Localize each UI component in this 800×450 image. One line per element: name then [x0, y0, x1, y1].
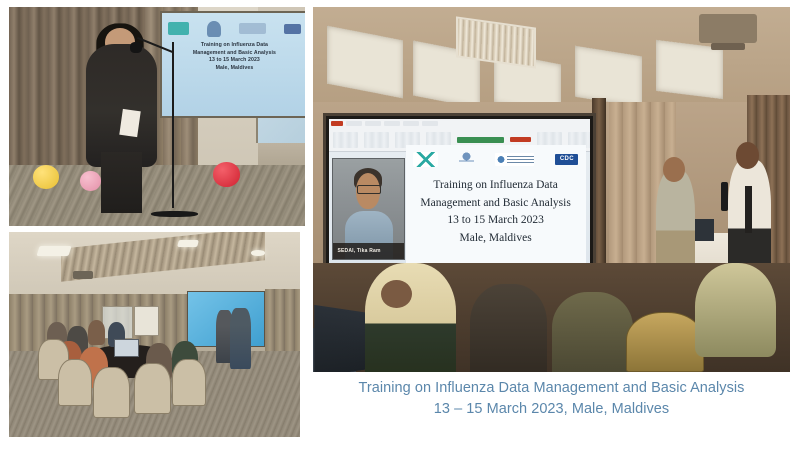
caption-block: Training on Influenza Data Management an…: [313, 378, 790, 419]
ribbon-tab: [422, 121, 438, 126]
ceiling-projector: [73, 271, 93, 279]
ribbon-tab: [346, 121, 362, 126]
ceiling-light: [177, 240, 199, 247]
attendee: [552, 292, 633, 372]
caption-line-2: 13 – 15 March 2023, Male, Maldives: [313, 399, 790, 420]
chair: [93, 367, 130, 418]
ceiling-light: [36, 246, 71, 256]
emblem-logo-icon: [207, 21, 220, 37]
slide-title-line-3: 13 to 15 March 2023: [447, 214, 543, 226]
slide-title-line-1: Training on Influenza Data: [433, 179, 557, 191]
slide-canvas: Training on Influenza Data Management an…: [0, 0, 800, 450]
ribbon-highlight-red: [510, 137, 531, 142]
ribbon-highlight-green: [457, 137, 504, 143]
speaker-legs: [101, 152, 142, 213]
ribbon-tab: [384, 121, 400, 126]
ceiling-light-panel: [575, 46, 642, 108]
video-participant-name: SEDAI, Tika Ram: [333, 243, 404, 259]
training-room-wide-photo: [9, 232, 300, 437]
projection-screen-frame: SEDAI, Tika Ram CDC Training on Influenz…: [323, 113, 596, 287]
handheld-microphone-icon: [721, 182, 729, 211]
caption-line-1: Training on Influenza Data Management an…: [313, 378, 790, 399]
ribbon-group: [333, 132, 358, 148]
projected-slide-small: Training on Influenza Data Management an…: [160, 11, 305, 118]
facilitator-left-head: [663, 157, 685, 183]
video-call-participant-tile: SEDAI, Tika Ram: [332, 158, 404, 260]
chair: [58, 359, 92, 406]
projected-slide-title: Training on Influenza Data Management an…: [169, 42, 300, 72]
microphone-stand: [172, 42, 174, 208]
who-logo-icon: [239, 23, 266, 34]
main-hall-photo: SEDAI, Tika Ram CDC Training on Influenz…: [313, 7, 790, 372]
balloon-pink: [80, 171, 101, 191]
slide-logo-row: CDC: [413, 150, 579, 170]
banquet-chair: [626, 312, 704, 372]
microphone-base: [151, 211, 198, 218]
microphone-icon: [130, 42, 142, 53]
speaker-at-microphone-photo: Training on Influenza Data Management an…: [9, 7, 305, 226]
slide-title-line-3: 13 to 15 March 2023: [209, 57, 260, 63]
ribbon-group: [364, 132, 389, 148]
slide-title-line-1: Training on Influenza Data: [201, 42, 268, 48]
speaker-body: [86, 44, 157, 167]
partner-logo-icon: [168, 22, 189, 35]
ribbon-tab: [403, 121, 419, 126]
attendee: [695, 263, 776, 358]
attendee: [88, 320, 105, 345]
slide-logo-row: [168, 20, 301, 39]
slide-title-line-2: Management and Basic Analysis: [420, 197, 570, 209]
balloon-red: [213, 162, 240, 186]
presentation-slide: CDC Training on Influenza Data Managemen…: [406, 145, 586, 268]
emblem-logo-icon: [459, 151, 474, 168]
slide-title-line-2: Management and Basic Analysis: [193, 50, 276, 56]
slide-title-line-4: Male, Maldives: [460, 232, 532, 244]
ribbon-tab: [365, 121, 381, 126]
ceiling-projector: [699, 14, 756, 43]
glasses-icon: [357, 185, 380, 194]
ribbon-tab-file: [331, 121, 343, 126]
chair: [172, 359, 206, 406]
projection-screen: SEDAI, Tika Ram CDC Training on Influenz…: [329, 119, 590, 281]
flipchart: [134, 306, 159, 337]
laptop: [114, 339, 139, 357]
ribbon-tab-row: [329, 119, 590, 128]
chair: [134, 363, 171, 414]
facilitator: [230, 308, 250, 370]
attendee-face: [381, 280, 412, 308]
cdc-logo-icon: [284, 24, 301, 34]
cdc-logo-icon: CDC: [555, 154, 578, 165]
necktie: [745, 186, 752, 233]
partner-logo-icon: [413, 152, 438, 167]
who-logo-icon: [495, 153, 533, 165]
presentation-slide-title: Training on Influenza Data Management an…: [416, 177, 575, 248]
attendee: [470, 284, 546, 372]
slide-title-line-4: Male, Maldives: [216, 65, 254, 71]
balloon-yellow: [33, 165, 60, 189]
attendee-with-laptop: [365, 263, 456, 373]
